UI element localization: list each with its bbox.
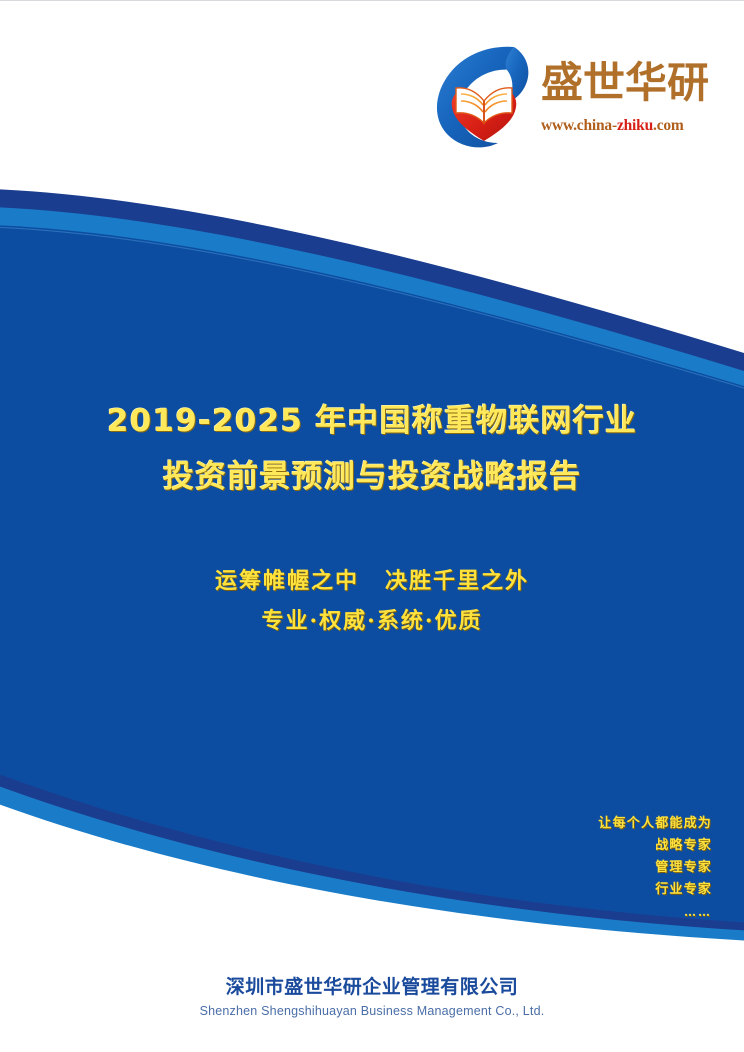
title-line-1: 2019-2025 年中国称重物联网行业 bbox=[0, 393, 744, 449]
slogan-line-2: 专业·权威·系统·优质 bbox=[0, 601, 744, 641]
tagline-line-1: 让每个人都能成为 bbox=[512, 813, 712, 835]
tagline-line-4: 行业专家 bbox=[512, 879, 712, 901]
footer-company-en: Shenzhen Shengshihuayan Business Managem… bbox=[0, 1001, 744, 1021]
tagline-ellipsis: …… bbox=[512, 901, 712, 923]
logo-wordmark-text: 盛世华研 bbox=[541, 59, 709, 107]
footer-block: 深圳市盛世华研企业管理有限公司 Shenzhen Shengshihuayan … bbox=[0, 973, 744, 1021]
tagline-block: 让每个人都能成为 战略专家 管理专家 行业专家 …… bbox=[512, 813, 712, 923]
slogan-line-1-left: 运筹帷幄之中 bbox=[215, 568, 359, 594]
title-line-2: 投资前景预测与投资战略报告 bbox=[0, 449, 744, 505]
logo-url-suffix: .com bbox=[653, 117, 684, 134]
tagline-line-2: 战略专家 bbox=[512, 835, 712, 857]
flame-book-logo-icon bbox=[428, 43, 540, 151]
slogan-line-1: 运筹帷幄之中决胜千里之外 bbox=[0, 561, 744, 601]
logo-url-highlight: zhiku bbox=[617, 117, 653, 134]
slogan-block: 运筹帷幄之中决胜千里之外 专业·权威·系统·优质 bbox=[0, 561, 744, 641]
logo-website-url[interactable]: www.china-zhiku.com bbox=[541, 117, 727, 135]
logo-wordmark-icon: 盛世华研 bbox=[541, 59, 726, 107]
footer-company-cn: 深圳市盛世华研企业管理有限公司 bbox=[0, 973, 744, 1001]
slogan-line-1-right: 决胜千里之外 bbox=[385, 568, 529, 594]
logo-url-prefix: www.china- bbox=[541, 117, 617, 134]
report-cover-page: 盛世华研 www.china-zhiku.com 2019-2025 年中国称重… bbox=[0, 0, 744, 1052]
company-logo: 盛世华研 www.china-zhiku.com bbox=[428, 41, 728, 156]
tagline-line-3: 管理专家 bbox=[512, 857, 712, 879]
report-title: 2019-2025 年中国称重物联网行业 投资前景预测与投资战略报告 bbox=[0, 393, 744, 505]
